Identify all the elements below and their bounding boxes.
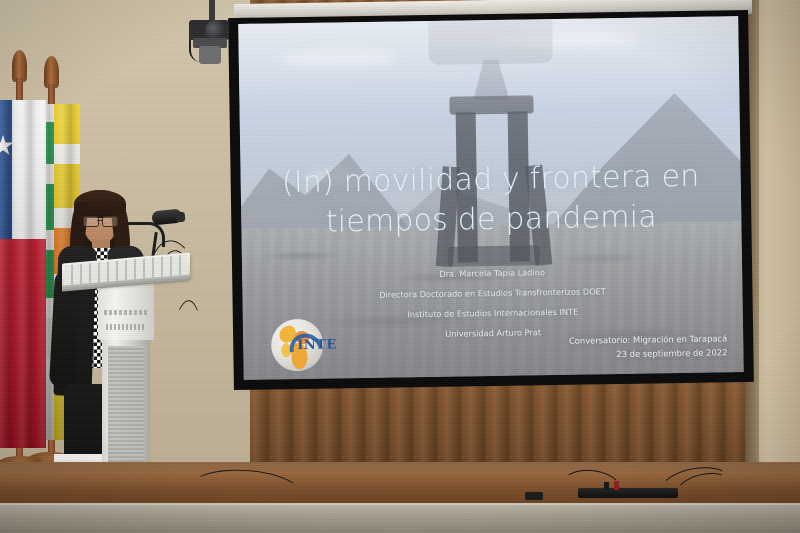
small-black-box — [525, 492, 543, 500]
stage-front-edge — [0, 505, 800, 533]
chile-flag — [0, 100, 46, 448]
photo-canvas: INTE (In) movilidad y frontera en tiempo… — [0, 0, 800, 533]
slide-text-layer: (In) movilidad y frontera en tiempos de … — [238, 16, 744, 380]
power-plug-red — [614, 481, 619, 490]
slide-title-line1: (In) movilidad y frontera en — [248, 156, 733, 203]
power-plug — [604, 482, 609, 490]
slide-event-credit: Conversatorio: Migración en Tarapacá 23 … — [497, 332, 727, 363]
lectern-label — [104, 310, 148, 315]
slide-surface: INTE (In) movilidad y frontera en tiempo… — [238, 16, 744, 380]
screen-border: INTE (In) movilidad y frontera en tiempo… — [228, 10, 754, 390]
slide-event-date: 23 de septiembre de 2022 — [497, 346, 727, 363]
projection-screen: INTE (In) movilidad y frontera en tiempo… — [231, 0, 755, 400]
stage-spotlight-icon — [183, 0, 239, 70]
slide-title: (In) movilidad y frontera en tiempos de … — [248, 156, 733, 243]
lectern-logo — [106, 324, 146, 330]
slide-title-line2: tiempos de pandemia — [249, 196, 734, 243]
eyeglasses-icon — [83, 216, 117, 225]
power-strip — [578, 488, 678, 498]
